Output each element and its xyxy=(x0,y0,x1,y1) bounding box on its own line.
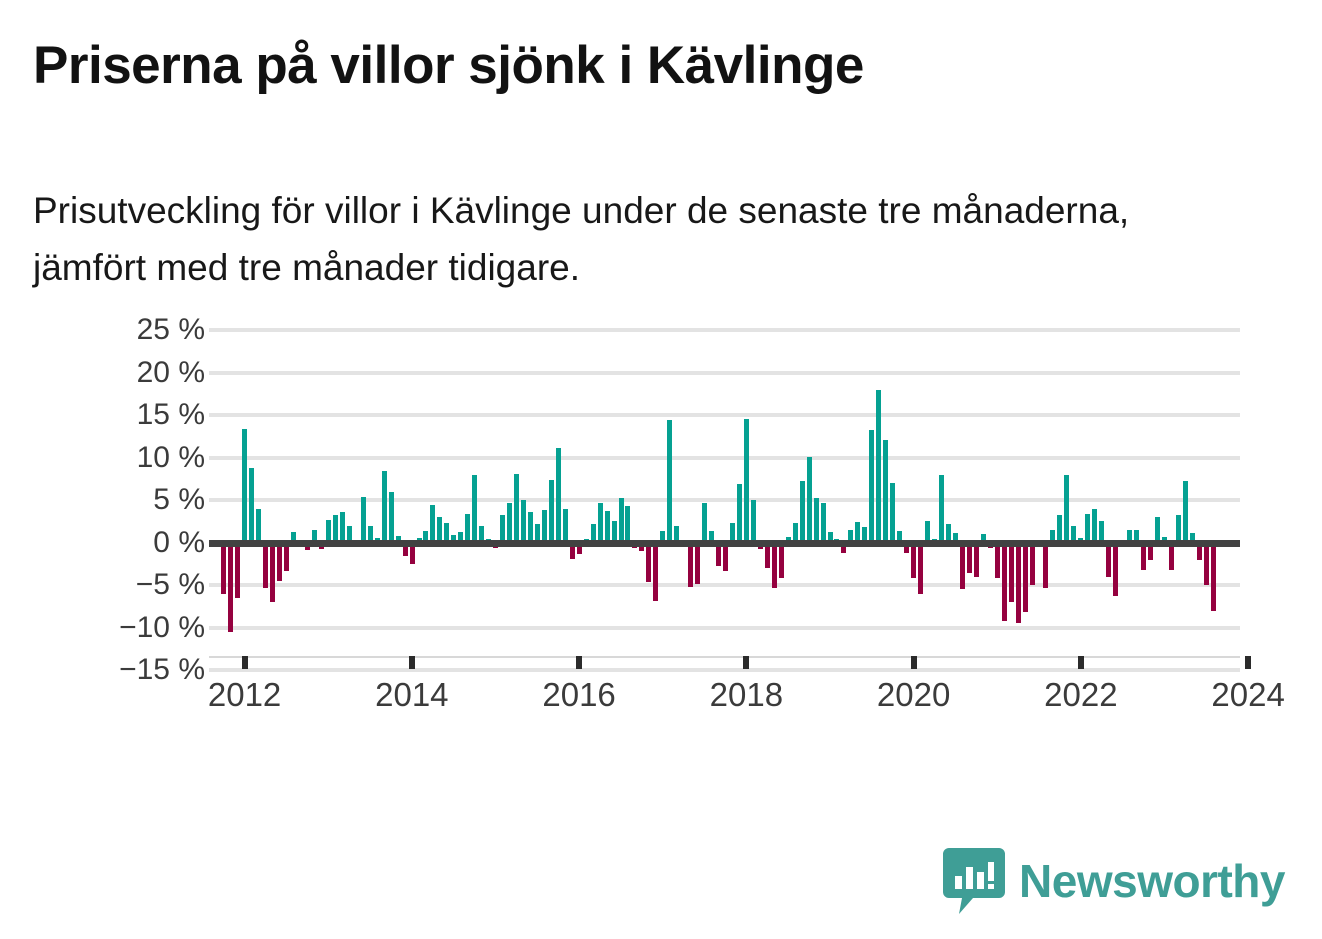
bar xyxy=(1064,475,1069,543)
bar xyxy=(465,514,470,542)
bar xyxy=(695,543,700,585)
bar xyxy=(521,500,526,543)
zero-axis-line xyxy=(209,540,1240,547)
x-tick-label: 2020 xyxy=(877,676,950,714)
page-title: Priserna på villor sjönk i Kävlinge xyxy=(33,35,864,96)
bar xyxy=(1016,543,1021,624)
bar xyxy=(667,420,672,542)
y-tick-label: 25 % xyxy=(137,313,205,347)
bar xyxy=(688,543,693,587)
bar xyxy=(1176,515,1181,542)
bar xyxy=(472,475,477,543)
bar xyxy=(556,448,561,542)
bar xyxy=(702,503,707,542)
bar xyxy=(619,498,624,542)
bar xyxy=(939,475,944,543)
x-tick-label: 2012 xyxy=(208,676,281,714)
y-tick-label: −5 % xyxy=(136,568,205,602)
bar xyxy=(270,543,275,603)
x-tick-label: 2024 xyxy=(1211,676,1284,714)
x-tick-label: 2022 xyxy=(1044,676,1117,714)
bar xyxy=(890,483,895,543)
bar xyxy=(263,543,268,588)
bar xyxy=(1204,543,1209,586)
x-tick-label: 2014 xyxy=(375,676,448,714)
bar xyxy=(549,480,554,542)
bar xyxy=(1023,543,1028,613)
x-tick-label: 2018 xyxy=(710,676,783,714)
bar xyxy=(800,481,805,542)
bar xyxy=(563,509,568,543)
bar xyxy=(340,512,345,543)
bar xyxy=(1009,543,1014,603)
y-tick-label: 0 % xyxy=(153,526,205,560)
bar xyxy=(1106,543,1111,577)
bar xyxy=(284,543,289,572)
bar xyxy=(807,457,812,543)
x-tick xyxy=(1245,656,1251,669)
bar xyxy=(1211,543,1216,611)
plot-area xyxy=(209,330,1240,670)
bar-series xyxy=(209,330,1240,670)
bar xyxy=(389,492,394,543)
x-tick-label: 2016 xyxy=(542,676,615,714)
bar xyxy=(723,543,728,572)
bar xyxy=(500,515,505,542)
bar xyxy=(228,543,233,632)
bar xyxy=(1169,543,1174,570)
bar xyxy=(779,543,784,579)
bar xyxy=(221,543,226,594)
bar xyxy=(1113,543,1118,597)
bar xyxy=(542,510,547,542)
bar xyxy=(598,503,603,542)
bar xyxy=(249,468,254,543)
bar xyxy=(382,471,387,542)
chart-subtitle: Prisutveckling för villor i Kävlinge und… xyxy=(33,182,1233,297)
bar xyxy=(911,543,916,579)
bar xyxy=(1183,481,1188,542)
bar xyxy=(869,430,874,542)
bar xyxy=(974,543,979,577)
bar xyxy=(744,419,749,542)
bar xyxy=(242,429,247,542)
bar xyxy=(507,503,512,542)
bar xyxy=(430,505,435,542)
bar xyxy=(821,503,826,542)
bar xyxy=(361,497,366,543)
chart-page: Priserna på villor sjönk i Kävlinge Pris… xyxy=(0,0,1322,939)
bar xyxy=(333,515,338,542)
logo-wordmark: Newsworthy xyxy=(1019,858,1285,904)
newsworthy-logo: Newsworthy xyxy=(943,845,1285,917)
bar xyxy=(960,543,965,590)
bar xyxy=(1141,543,1146,570)
y-tick-label: 20 % xyxy=(137,356,205,390)
bar xyxy=(1043,543,1048,588)
bar xyxy=(737,484,742,543)
bar xyxy=(528,512,533,543)
bar xyxy=(646,543,651,583)
y-tick-label: −10 % xyxy=(119,611,205,645)
bar xyxy=(814,498,819,542)
bar xyxy=(514,474,519,543)
bar xyxy=(256,509,261,543)
bar xyxy=(995,543,1000,579)
bar xyxy=(1092,509,1097,543)
y-tick-label: 10 % xyxy=(137,441,205,475)
bar xyxy=(1085,514,1090,542)
bar xyxy=(277,543,282,581)
bar xyxy=(883,440,888,543)
bar xyxy=(772,543,777,588)
y-tick-label: 5 % xyxy=(153,483,205,517)
bar xyxy=(605,511,610,542)
bar xyxy=(1057,515,1062,542)
y-axis-labels: 25 %20 %15 %10 %5 %0 %−5 %−10 %−15 % xyxy=(60,330,205,660)
bar xyxy=(751,500,756,543)
bar xyxy=(235,543,240,598)
bar xyxy=(1002,543,1007,621)
y-tick-label: 15 % xyxy=(137,398,205,432)
bar xyxy=(653,543,658,602)
bar xyxy=(876,390,881,543)
bar xyxy=(625,506,630,543)
bar xyxy=(918,543,923,595)
bar-chart-speech-bubble-icon xyxy=(943,848,1005,914)
bar xyxy=(1030,543,1035,586)
bar-chart: 25 %20 %15 %10 %5 %0 %−5 %−10 %−15 % 201… xyxy=(0,330,1290,740)
y-tick-label: −15 % xyxy=(119,653,205,687)
bar xyxy=(967,543,972,574)
